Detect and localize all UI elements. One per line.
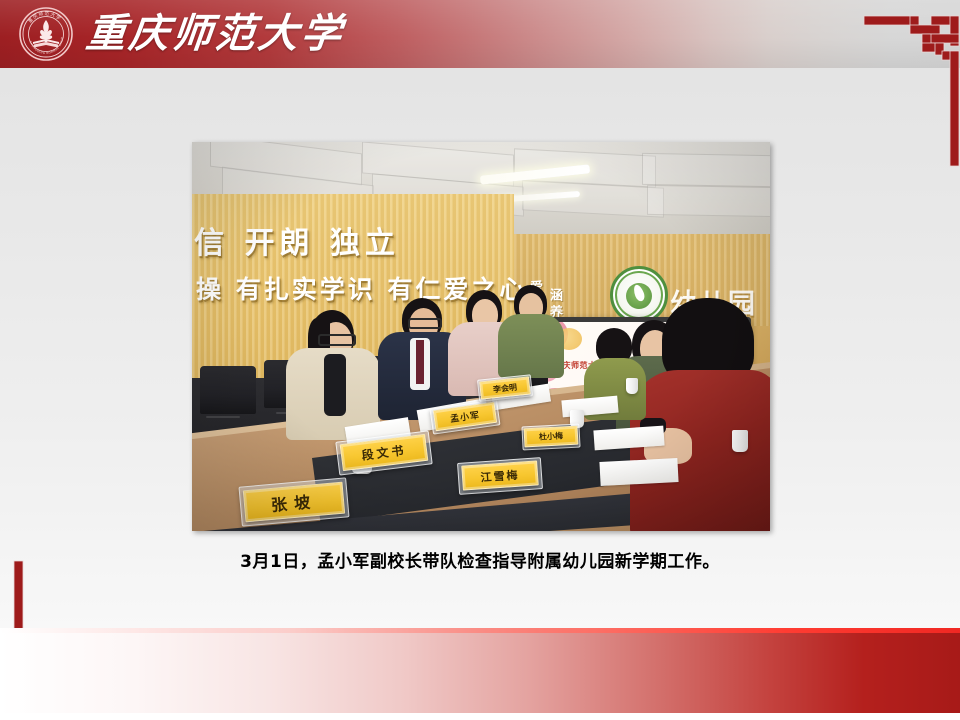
chair [200,366,256,414]
ceiling-tile [642,153,770,187]
footer-highlight-line [0,628,960,633]
presentation-slide: 重庆师范大学 CHONGQING NORMAL UNIVERSITY 重庆师范大… [0,0,960,720]
name-card-江雪梅: 江雪梅 [461,460,539,490]
paper-cup [626,378,638,394]
kindergarten-logo-icon [610,266,668,324]
university-seal-icon: 重庆师范大学 CHONGQING NORMAL UNIVERSITY [18,6,74,62]
footer-banner [0,628,960,713]
photo-caption: 3月1日，孟小军副校长带队检查指导附属幼儿园新学期工作。 [0,547,960,572]
meeting-photo: 信 开朗 独立 操 有扎实学识 有仁爱之心 爱润童心 涵养 [192,142,770,531]
paper-document [599,458,678,486]
name-card-杜小梅: 杜小梅 [524,426,579,448]
chinese-corner-ornament-top-right [860,6,960,241]
university-wordmark: 重庆师范大学 [86,4,344,64]
ceiling-tile [647,185,770,217]
meeting-photo-frame: 信 开朗 独立 操 有扎实学识 有仁爱之心 爱润童心 涵养 [192,142,770,531]
university-name-text: 重庆师范大学 [84,14,346,54]
slide-bottom-margin [0,713,960,720]
paper-cup [732,430,748,452]
wall-slogan-line1: 信 开朗 独立 [194,218,400,262]
